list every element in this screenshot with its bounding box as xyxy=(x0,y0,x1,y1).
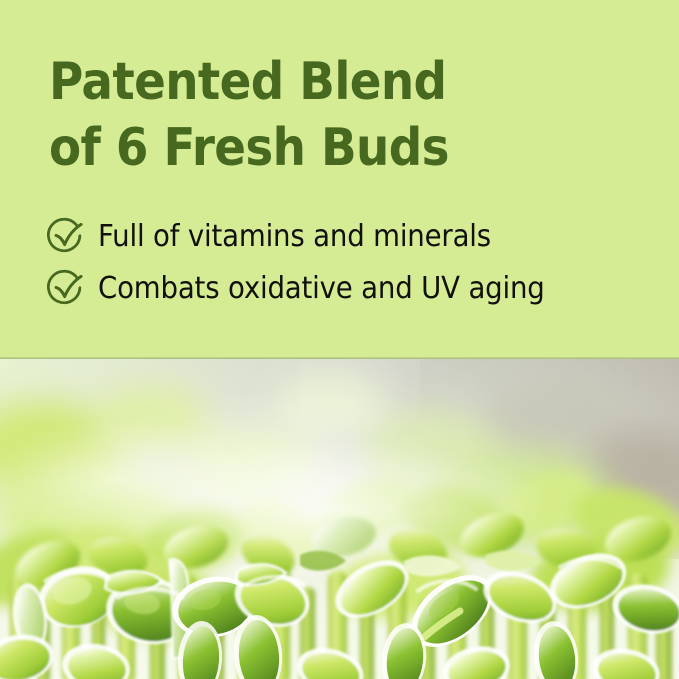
sprouts-illustration xyxy=(0,359,679,679)
check-circle-icon xyxy=(44,216,86,258)
check-circle-icon xyxy=(44,268,86,310)
headline-panel: Patented Blend of 6 Fresh Buds Full of v… xyxy=(0,0,679,359)
sprouts-photo xyxy=(0,359,679,679)
list-item-label: Combats oxidative and UV aging xyxy=(98,272,545,306)
list-item: Full of vitamins and minerals xyxy=(44,212,664,262)
product-feature-card: Patented Blend of 6 Fresh Buds Full of v… xyxy=(0,0,679,679)
list-item: Combats oxidative and UV aging xyxy=(44,264,664,314)
list-item-label: Full of vitamins and minerals xyxy=(98,220,491,254)
benefit-list: Full of vitamins and minerals Combats ox… xyxy=(44,212,664,316)
page-title: Patented Blend of 6 Fresh Buds xyxy=(49,49,589,181)
